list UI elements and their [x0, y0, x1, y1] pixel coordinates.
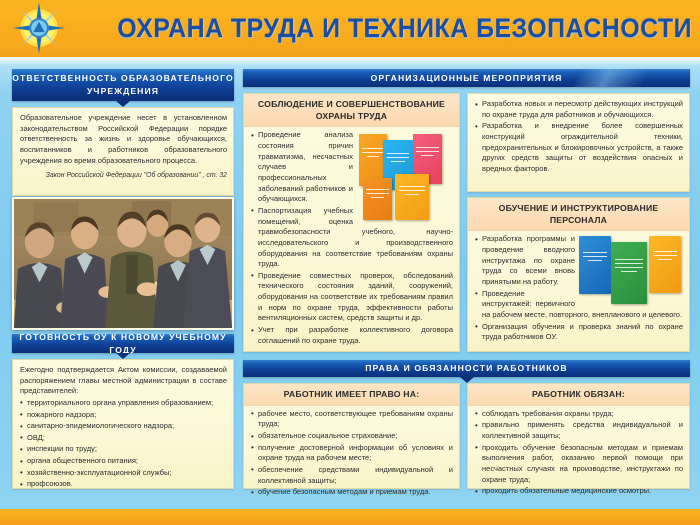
worker-rights-content: рабочее место, соответствующее требовани…	[244, 406, 459, 504]
sub-banner-training: ОБУЧЕНИЕ И ИНСТРУКТИРОВАНИЕ ПЕРСОНАЛА	[468, 198, 689, 231]
panel-readiness: Ежегодно подтверждается Актом комиссии, …	[12, 359, 234, 489]
list-item: Паспортизация учебных помещений, оценка …	[251, 206, 453, 270]
list-item: соблюдать требования охраны труда;	[475, 409, 683, 420]
training-content: Разработка программы и проведение вводно…	[468, 231, 689, 348]
compliance-list: Проведение анализа состояния причин трав…	[251, 130, 453, 346]
panel-responsibility: Образовательное учреждение несет в устан…	[12, 107, 234, 196]
banner-worker-rights-duties: ПРАВА И ОБЯЗАННОСТИ РАБОТНИКОВ	[243, 360, 690, 377]
list-item: Проведение инструктажей: первичного на р…	[475, 289, 683, 321]
worker-duties-content: соблюдать требования охраны труда; прави…	[468, 406, 689, 503]
worker-duties-list: соблюдать требования охраны труда; прави…	[475, 409, 683, 497]
list-item: Разработка и внедрение более совершенных…	[475, 121, 683, 174]
list-item: органа общественного питания;	[20, 456, 227, 467]
development-list: Разработка новых и пересмотр действующих…	[475, 99, 683, 174]
list-item: Учет при разработке коллективного догово…	[251, 325, 453, 346]
responsibility-text: Образовательное учреждение несет в устан…	[13, 108, 233, 171]
page-title: ОХРАНА ТРУДА И ТЕХНИКА БЕЗОПАСНОСТИ	[230, 8, 692, 48]
list-item: ОВД;	[20, 433, 227, 444]
poster-body: ОТВЕТСТВЕННОСТЬ ОБРАЗОВАТЕЛЬНОГО УЧРЕЖДЕ…	[0, 57, 700, 509]
list-item: проходить обязательные медицинские осмот…	[475, 486, 683, 497]
list-item: обеспечение средствами индивидуальной и …	[251, 465, 453, 486]
list-item: обязательное социальное страхование;	[251, 431, 453, 442]
banner-organizational-measures: ОРГАНИЗАЦИОННЫЕ МЕРОПРИЯТИЯ	[243, 69, 690, 87]
page-header: ОХРАНА ТРУДА И ТЕХНИКА БЕЗОПАСНОСТИ	[0, 0, 700, 57]
list-item: Проведение совместных проверок, обследов…	[251, 271, 453, 324]
panel-personnel-training: ОБУЧЕНИЕ И ИНСТРУКТИРОВАНИЕ ПЕРСОНАЛА Ра…	[467, 197, 690, 352]
list-item: получение достоверной информации об усло…	[251, 443, 453, 464]
banner-readiness-new-school-year: ГОТОВНОСТЬ ОУ К НОВОМУ УЧЕБНОМУ ГОДУ	[12, 334, 234, 353]
list-item: Разработка программы и проведение вводно…	[475, 234, 683, 287]
sub-banner-worker-duties: РАБОТНИК ОБЯЗАН:	[468, 384, 689, 406]
emercom-star-logo	[10, 2, 68, 54]
readiness-list: территориального органа управления образ…	[20, 398, 227, 490]
panel-compliance-improvement: СОБЛЮДЕНИЕ И СОВЕРШЕНСТВОВАНИЕ ОХРАНЫ ТР…	[243, 93, 460, 352]
list-item: обучение безопасным методам и приемам тр…	[251, 487, 453, 498]
banner-institution-responsibility: ОТВЕТСТВЕННОСТЬ ОБРАЗОВАТЕЛЬНОГО УЧРЕЖДЕ…	[12, 69, 234, 101]
law-citation: Закон Российской Федерации "Об образован…	[13, 171, 233, 179]
list-item: Проведение анализа состояния причин трав…	[251, 130, 453, 204]
list-item: Разработка новых и пересмотр действующих…	[475, 99, 683, 120]
students-cpr-training-photo	[12, 197, 234, 330]
development-content: Разработка новых и пересмотр действующих…	[468, 94, 689, 180]
compliance-content: Проведение анализа состояния причин трав…	[244, 127, 459, 352]
list-item: инспекции по труду;	[20, 444, 227, 455]
list-item: правильно применять средства индивидуаль…	[475, 420, 683, 441]
worker-rights-list: рабочее место, соответствующее требовани…	[251, 409, 453, 498]
list-item: пожарного надзора;	[20, 410, 227, 421]
training-list: Разработка программы и проведение вводно…	[475, 234, 683, 342]
list-item: Организация обучения и проверка знаний п…	[475, 322, 683, 343]
panel-instruction-development: Разработка новых и пересмотр действующих…	[467, 93, 690, 192]
readiness-intro: Ежегодно подтверждается Актом комиссии, …	[20, 365, 227, 397]
readiness-content: Ежегодно подтверждается Актом комиссии, …	[13, 360, 233, 496]
sub-banner-worker-rights: РАБОТНИК ИМЕЕТ ПРАВО НА:	[244, 384, 459, 406]
sub-banner-compliance: СОБЛЮДЕНИЕ И СОВЕРШЕНСТВОВАНИЕ ОХРАНЫ ТР…	[244, 94, 459, 127]
panel-worker-rights: РАБОТНИК ИМЕЕТ ПРАВО НА: рабочее место, …	[243, 383, 460, 489]
panel-worker-duties: РАБОТНИК ОБЯЗАН: соблюдать требования ох…	[467, 383, 690, 489]
list-item: санитарно-эпидемиологического надзора;	[20, 421, 227, 432]
list-item: территориального органа управления образ…	[20, 398, 227, 409]
page-footer	[0, 509, 700, 525]
list-item: хозяйственно-эксплуатационной службы;	[20, 468, 227, 479]
list-item: рабочее место, соответствующее требовани…	[251, 409, 453, 430]
list-item: проходить обучение безопасным методам и …	[475, 443, 683, 486]
list-item: профсоюзов.	[20, 479, 227, 490]
photo-graphic	[14, 199, 232, 328]
